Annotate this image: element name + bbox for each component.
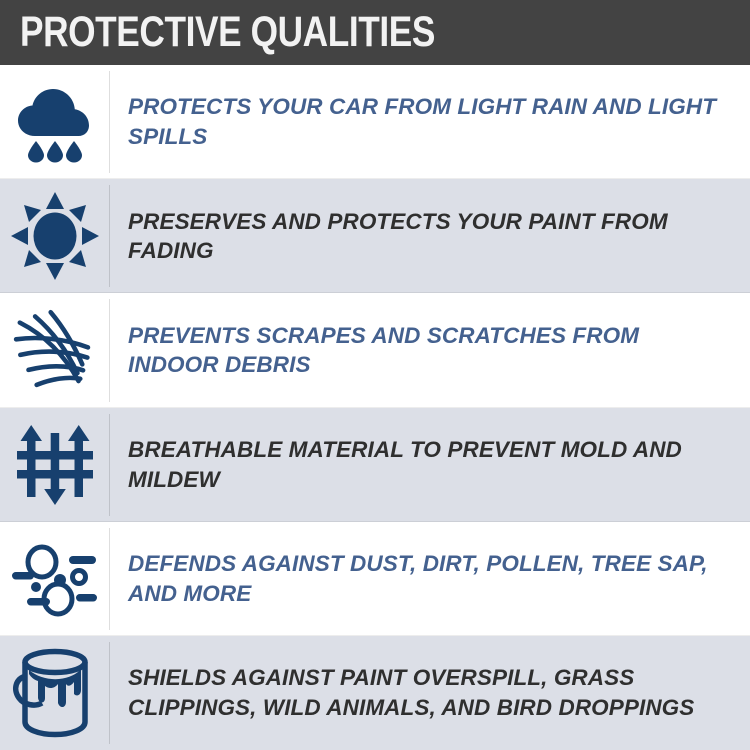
- icon-cell: [0, 293, 110, 407]
- sun-icon: [11, 192, 99, 280]
- paint-can-icon: [11, 646, 99, 740]
- icon-cell: [0, 408, 110, 522]
- text-cell: BREATHABLE MATERIAL TO PREVENT MOLD AND …: [110, 408, 750, 522]
- icon-cell: [0, 522, 110, 636]
- breathable-airflow-icon: [13, 421, 97, 509]
- feature-text: PROTECTS YOUR CAR FROM LIGHT RAIN AND LI…: [128, 92, 734, 151]
- text-cell: PROTECTS YOUR CAR FROM LIGHT RAIN AND LI…: [110, 65, 750, 179]
- text-cell: PREVENTS SCRAPES AND SCRATCHES FROM INDO…: [110, 293, 750, 407]
- rain-cloud-icon: [12, 79, 98, 165]
- feature-text: BREATHABLE MATERIAL TO PREVENT MOLD AND …: [128, 435, 734, 494]
- feature-row-dust: DEFENDS AGAINST DUST, DIRT, POLLEN, TREE…: [0, 522, 750, 636]
- icon-cell: [0, 179, 110, 293]
- text-cell: SHIELDS AGAINST PAINT OVERSPILL, GRASS C…: [110, 636, 750, 750]
- feature-text: PRESERVES AND PROTECTS YOUR PAINT FROM F…: [128, 207, 734, 266]
- icon-cell: [0, 65, 110, 179]
- page-title: PROTECTIVE QUALITIES: [20, 11, 435, 54]
- scratches-mesh-icon: [10, 302, 100, 398]
- header-bar: PROTECTIVE QUALITIES: [0, 0, 750, 65]
- icon-cell: [0, 636, 110, 750]
- feature-list: PROTECTS YOUR CAR FROM LIGHT RAIN AND LI…: [0, 65, 750, 750]
- feature-row-breathable: BREATHABLE MATERIAL TO PREVENT MOLD AND …: [0, 408, 750, 522]
- dust-particles-icon: [9, 536, 101, 622]
- feature-row-scratches: PREVENTS SCRAPES AND SCRATCHES FROM INDO…: [0, 293, 750, 407]
- feature-row-paint: SHIELDS AGAINST PAINT OVERSPILL, GRASS C…: [0, 636, 750, 750]
- feature-text: PREVENTS SCRAPES AND SCRATCHES FROM INDO…: [128, 321, 734, 380]
- text-cell: DEFENDS AGAINST DUST, DIRT, POLLEN, TREE…: [110, 522, 750, 636]
- feature-row-rain: PROTECTS YOUR CAR FROM LIGHT RAIN AND LI…: [0, 65, 750, 179]
- feature-text: SHIELDS AGAINST PAINT OVERSPILL, GRASS C…: [128, 663, 734, 722]
- text-cell: PRESERVES AND PROTECTS YOUR PAINT FROM F…: [110, 179, 750, 293]
- feature-row-sun: PRESERVES AND PROTECTS YOUR PAINT FROM F…: [0, 179, 750, 293]
- feature-text: DEFENDS AGAINST DUST, DIRT, POLLEN, TREE…: [128, 549, 734, 608]
- protective-qualities-infographic: PROTECTIVE QUALITIES PROTECTS YOUR CAR F…: [0, 0, 750, 750]
